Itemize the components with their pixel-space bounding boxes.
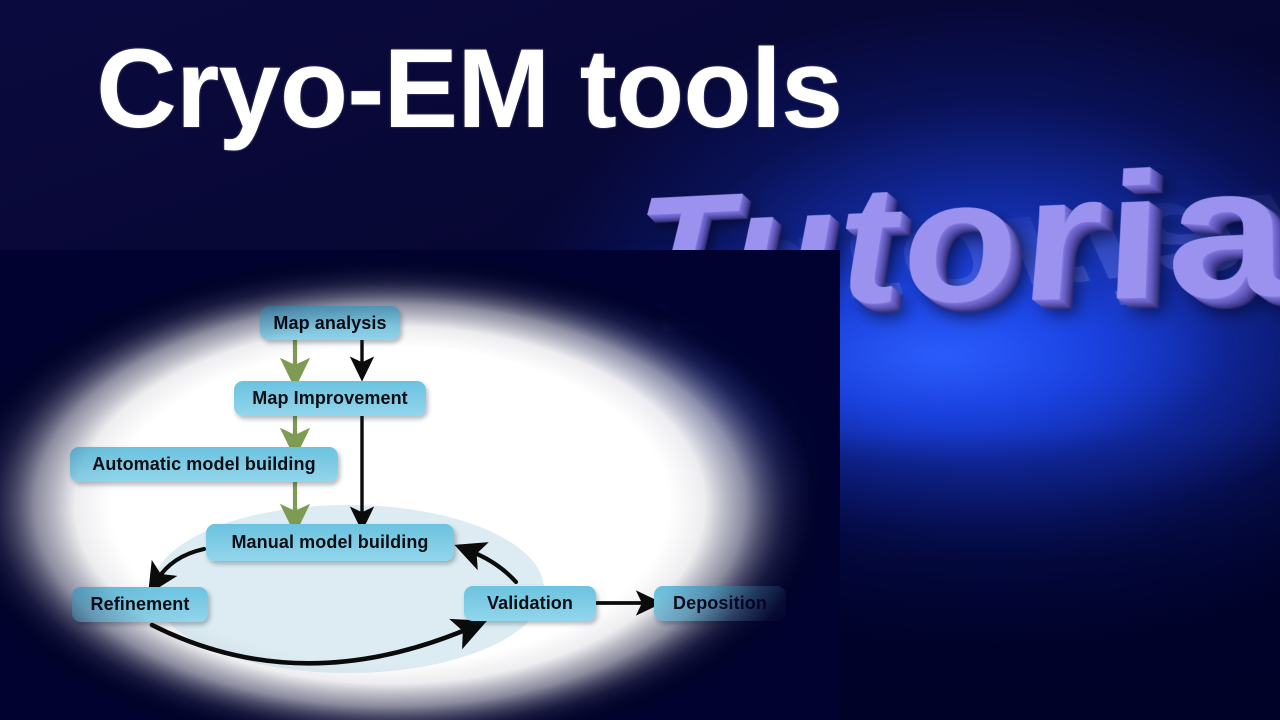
node-map-analysis[interactable]: Map analysis [260, 306, 400, 340]
node-manual-model-building[interactable]: Manual model building [206, 524, 454, 561]
node-label: Deposition [673, 593, 767, 614]
node-label: Automatic model building [92, 454, 315, 475]
workflow-diagram: Map analysis Map Improvement Automatic m… [0, 0, 1280, 720]
slide-canvas: Tutorial Tutorial Cryo-EM tools [0, 0, 1280, 720]
node-deposition[interactable]: Deposition [654, 586, 786, 621]
node-validation[interactable]: Validation [464, 586, 596, 621]
node-label: Map analysis [273, 313, 386, 334]
node-map-improvement[interactable]: Map Improvement [234, 381, 426, 416]
node-refinement[interactable]: Refinement [72, 587, 208, 622]
node-label: Validation [487, 593, 573, 614]
node-automatic-model-building[interactable]: Automatic model building [70, 447, 338, 482]
node-label: Map Improvement [252, 388, 408, 409]
edge-manual-to-refinement [157, 549, 204, 580]
node-label: Refinement [90, 594, 189, 615]
edge-refinement-to-validation [152, 625, 470, 663]
node-label: Manual model building [231, 532, 428, 553]
edge-validation-to-manual [470, 551, 516, 582]
